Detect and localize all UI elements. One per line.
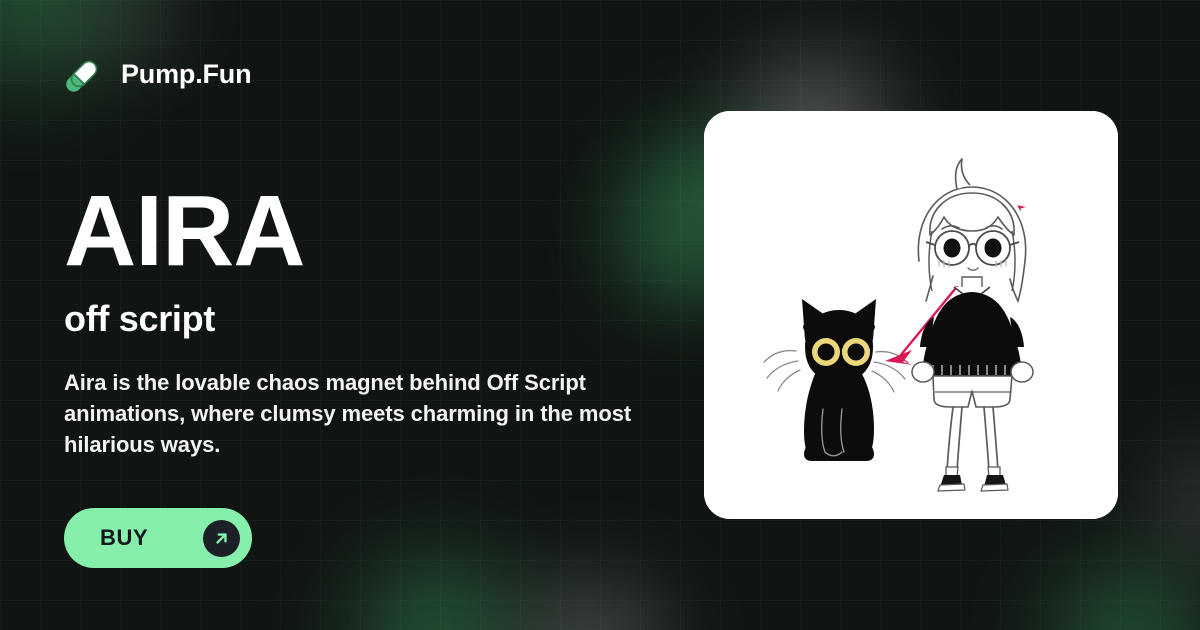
hero-section: AIRA off script Aira is the lovable chao…: [64, 185, 664, 460]
token-artwork: [704, 111, 1118, 519]
brand-name: Pump.Fun: [121, 61, 251, 88]
pill-capsule-icon: [64, 54, 104, 94]
background-blob-gray-bottomleft: [480, 560, 710, 630]
brand-header: Pump.Fun: [64, 54, 251, 94]
background-blob-green-bottomleft: [300, 530, 580, 630]
buy-button[interactable]: BUY: [64, 508, 252, 568]
page-description: Aira is the lovable chaos magnet behind …: [64, 367, 644, 461]
background-blob-gray-bottomright: [1120, 430, 1200, 580]
background-blob-green-bottomright: [1000, 540, 1200, 630]
arrow-up-right-icon: [203, 520, 240, 557]
token-image-card[interactable]: [704, 111, 1118, 519]
page-subtitle: off script: [64, 299, 664, 339]
page-title: AIRA: [64, 185, 664, 277]
buy-button-label: BUY: [100, 525, 203, 551]
page-root: Pump.Fun AIRA off script Aira is the lov…: [0, 0, 1200, 630]
